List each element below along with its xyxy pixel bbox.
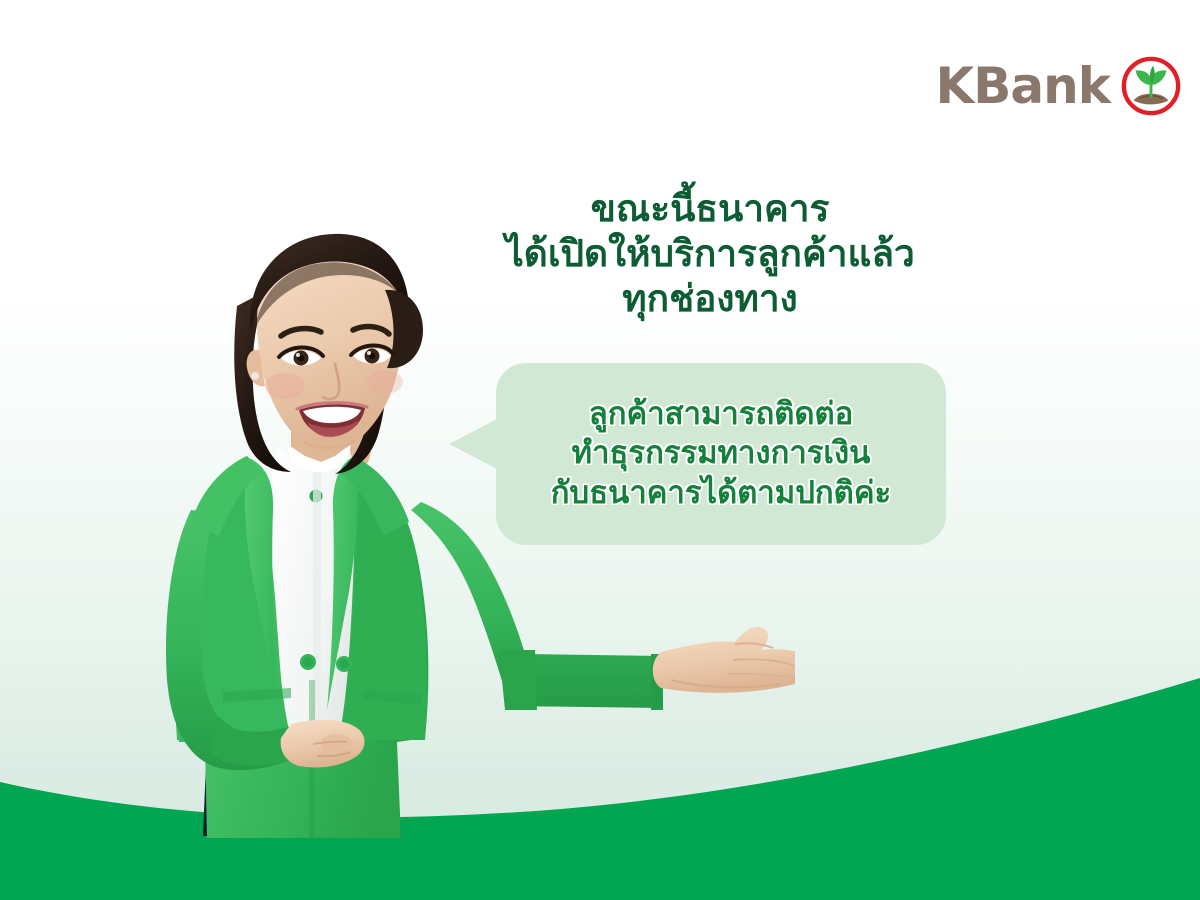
bubble-line-2: ทำธุรกรรมทางการเงิน <box>551 434 891 473</box>
announcement-headline: ขณะนี้ธนาคาร ได้เปิดให้บริการลูกค้าแล้ว … <box>430 186 990 321</box>
kbank-wordmark: KBank <box>936 61 1110 111</box>
headline-line-3: ทุกช่องทาง <box>430 276 990 321</box>
speech-bubble-tail <box>449 418 499 470</box>
service-message-bubble: ลูกค้าสามารถติดต่อ ทำธุรกรรมทางการเงิน ก… <box>496 363 946 545</box>
bubble-line-1: ลูกค้าสามารถติดต่อ <box>551 395 891 434</box>
kbank-logo: KBank <box>936 55 1182 117</box>
headline-line-1: ขณะนี้ธนาคาร <box>430 186 990 231</box>
service-message-text: ลูกค้าสามารถติดต่อ ทำธุรกรรมทางการเงิน ก… <box>551 395 891 512</box>
banner-canvas: ลูกค้าสามารถติดต่อ ทำธุรกรรมทางการเงิน ก… <box>0 0 1200 900</box>
kbank-seedling-logo-icon <box>1120 55 1182 117</box>
headline-line-2: ได้เปิดให้บริการลูกค้าแล้ว <box>430 231 990 276</box>
bubble-line-3: กับธนาคารได้ตามปกติค่ะ <box>551 474 891 513</box>
